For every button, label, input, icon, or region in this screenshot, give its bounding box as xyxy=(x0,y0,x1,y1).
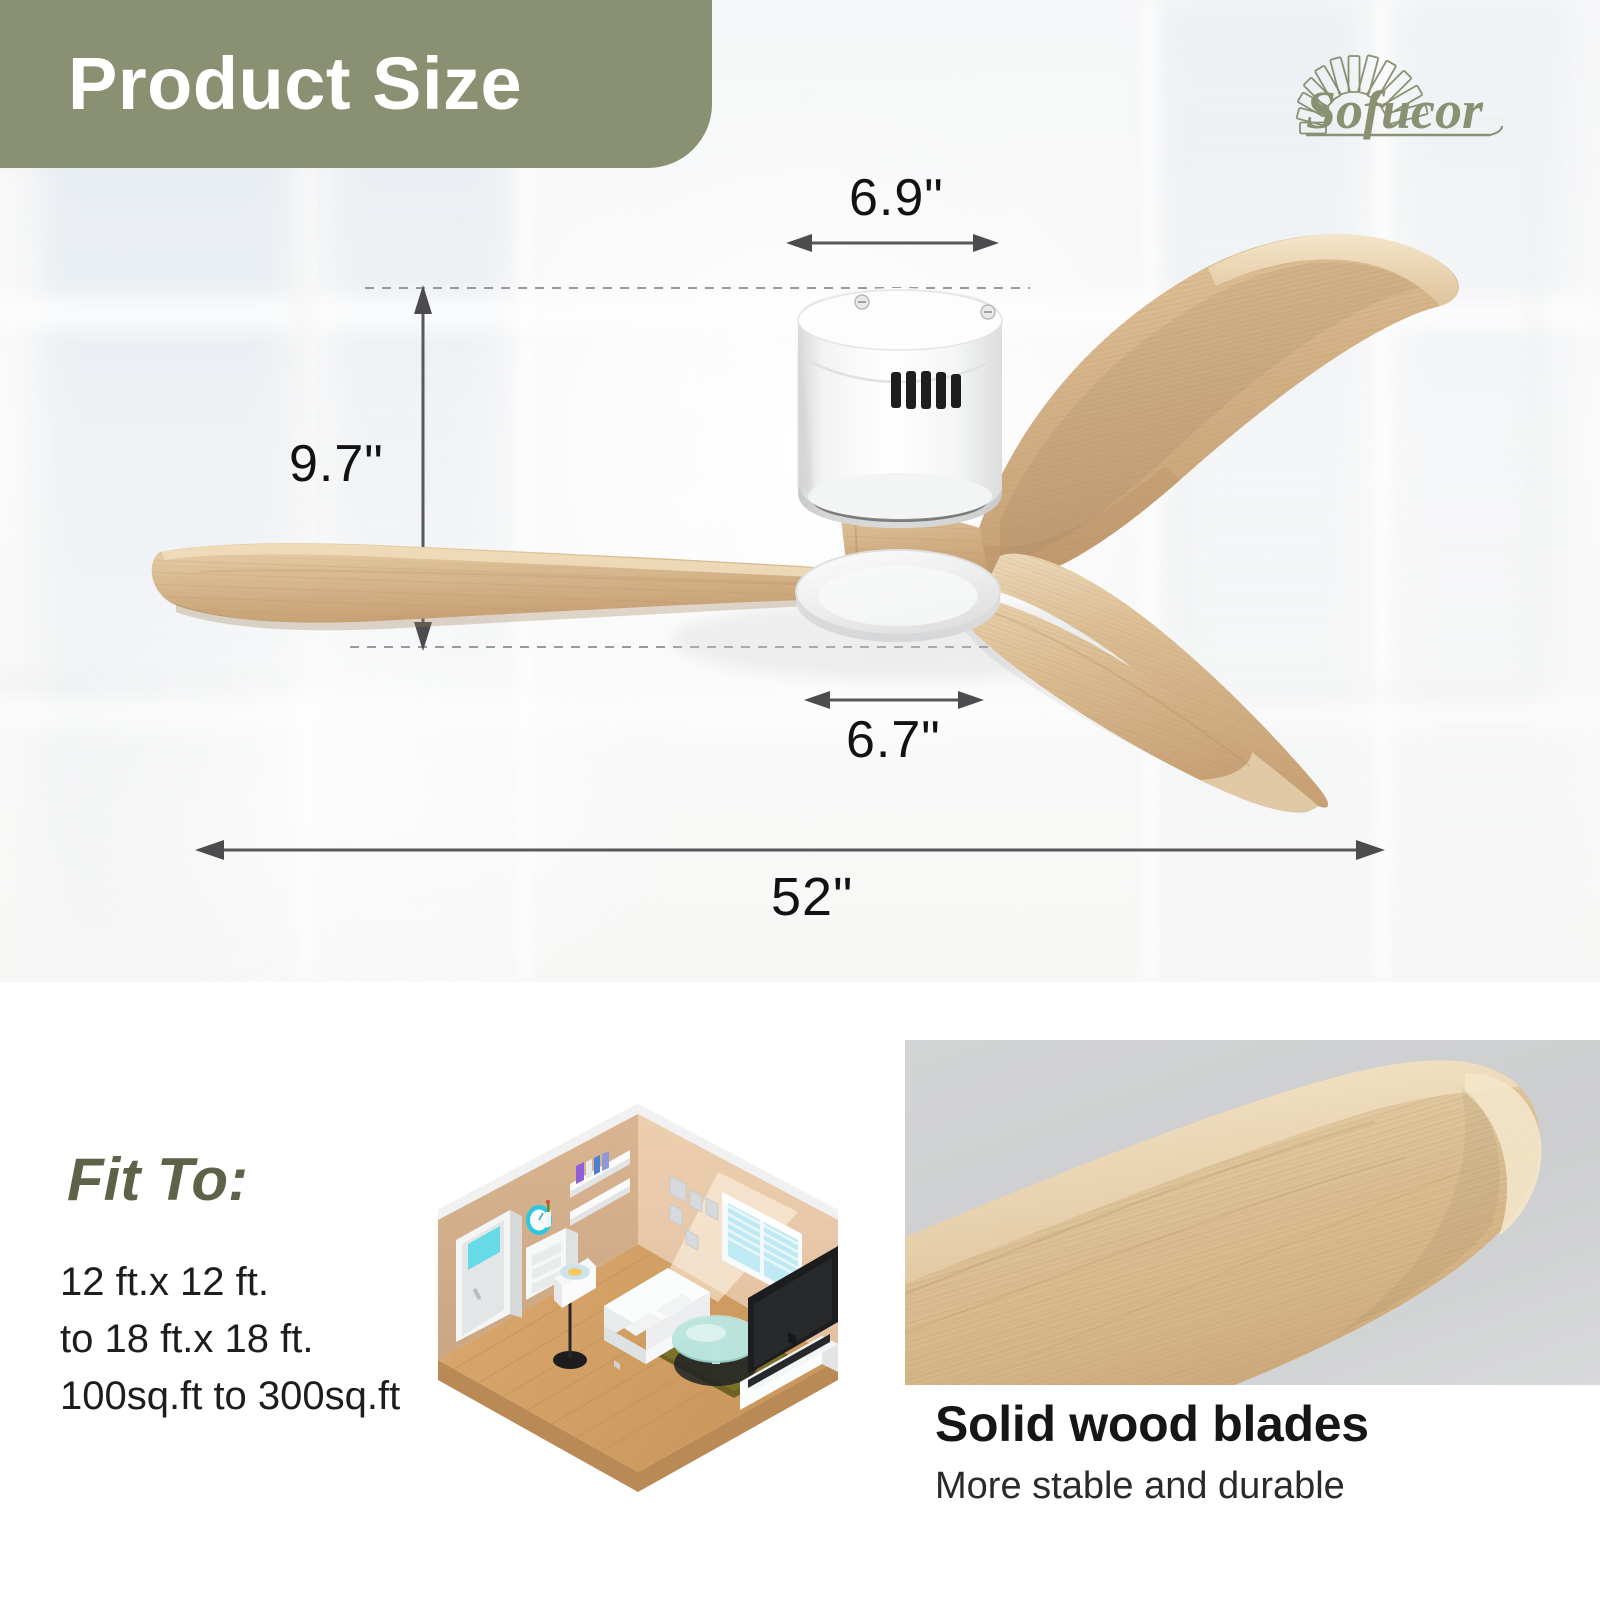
fan-blade-lower-right xyxy=(962,554,1328,814)
product-size-panel: 6.9" 9.7" 6.7" 52" Product Size xyxy=(0,0,1600,982)
dimension-label-light-kit-width: 6.7" xyxy=(846,710,941,770)
isometric-room-illustration xyxy=(418,1092,858,1512)
product-infographic: 6.9" 9.7" 6.7" 52" Product Size xyxy=(0,0,1600,1600)
page-title: Product Size xyxy=(68,47,522,121)
room-coffee-table xyxy=(672,1315,760,1386)
housing-screw-left xyxy=(855,295,869,309)
brand-wordmark: Sofucor xyxy=(1306,80,1484,140)
wood-blade-closeup-photo xyxy=(905,1040,1600,1385)
dimension-label-total-height: 9.7" xyxy=(289,434,384,494)
dimension-label-blade-span: 52" xyxy=(771,866,853,928)
brand-logo: Sofucor xyxy=(1258,36,1508,154)
feature-subtitle: More stable and durable xyxy=(935,1465,1345,1508)
housing-screw-right xyxy=(981,305,995,319)
fan-blade-upper-right xyxy=(975,234,1459,581)
light-kit-hub xyxy=(796,550,1000,642)
motor-housing xyxy=(798,288,1002,528)
feature-title: Solid wood blades xyxy=(935,1395,1369,1453)
section-title-banner: Product Size xyxy=(0,0,712,168)
dimension-label-housing-width: 6.9" xyxy=(849,168,944,228)
